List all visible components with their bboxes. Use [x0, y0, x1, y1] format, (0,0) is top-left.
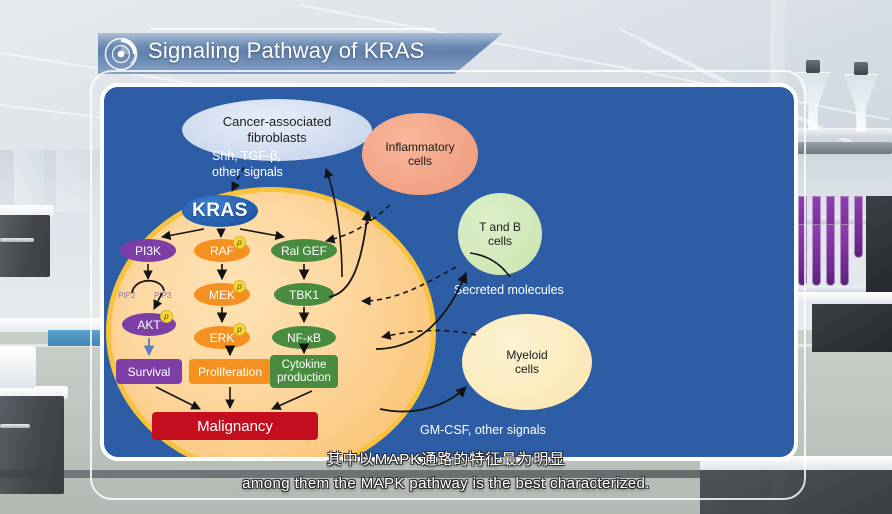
node-mek[interactable]: MEK p — [194, 283, 250, 306]
phospho-badge-icon: p — [233, 280, 246, 293]
flask-neck — [806, 60, 820, 73]
myeloid-cells-line2: cells — [506, 362, 547, 376]
outcome-survival-label: Survival — [128, 365, 171, 379]
test-tube — [798, 224, 807, 286]
secreted-molecules-label: Secreted molecules — [454, 283, 564, 299]
kras-node[interactable]: KRAS — [182, 195, 258, 227]
kras-signaling-diagram: Cancer-associated fibroblasts Shh, TGF-β… — [104, 87, 794, 457]
phospho-badge-icon: p — [160, 310, 173, 323]
pip3-label: PIP3 — [154, 291, 171, 300]
outcome-survival[interactable]: Survival — [116, 359, 182, 384]
subtitle-chinese: 其中以MAPK通路的特征最为明显 — [0, 448, 892, 469]
malignancy-label: Malignancy — [197, 418, 273, 435]
myeloid-cells[interactable]: Myeloid cells — [462, 314, 592, 410]
malignancy-box[interactable]: Malignancy — [152, 412, 318, 440]
outcome-proliferation[interactable]: Proliferation — [189, 359, 271, 384]
incoming-signals-label: Shh, TGF-β, other signals — [212, 149, 283, 180]
node-nfkb-label: NF-κB — [287, 331, 321, 345]
t-and-b-cells[interactable]: T and B cells — [458, 193, 542, 275]
glass-shelf — [786, 128, 892, 138]
node-pi3k-label: PI3K — [135, 244, 161, 258]
phospho-badge-icon: p — [233, 236, 246, 249]
node-ral-gef[interactable]: Ral GEF — [271, 239, 337, 262]
node-pi3k[interactable]: PI3K — [120, 239, 176, 262]
bench-surface — [0, 346, 36, 388]
caf-label-line2: fibroblasts — [223, 130, 331, 146]
kras-label: KRAS — [192, 200, 248, 222]
myeloid-cells-line1: Myeloid — [506, 348, 547, 362]
incoming-signals-line1: Shh, TGF-β, — [212, 149, 283, 165]
equipment-panel — [812, 300, 892, 352]
caf-label-line1: Cancer-associated — [223, 114, 331, 130]
gmcsf-signals-label: GM-CSF, other signals — [420, 423, 546, 439]
incoming-signals-line2: other signals — [212, 165, 283, 181]
screenshot-root: Signaling Pathway of KRAS Cancer-associa… — [0, 0, 892, 514]
phospho-badge-icon: p — [233, 323, 246, 336]
outcome-cytokine-line2: production — [277, 372, 331, 385]
test-tube — [826, 224, 835, 286]
diagram-panel: Cancer-associated fibroblasts Shh, TGF-β… — [100, 83, 798, 461]
outcome-cytokine-production[interactable]: Cytokine production — [270, 355, 338, 388]
cabinet-drawer — [0, 215, 50, 277]
node-ral-gef-label: Ral GEF — [281, 244, 327, 258]
title-accent-line — [150, 28, 435, 30]
test-tube — [812, 224, 821, 286]
outcome-cytokine-line1: Cytokine — [277, 359, 331, 372]
circular-target-logo-icon — [103, 36, 139, 72]
inflammatory-cells[interactable]: Inflammatory cells — [362, 113, 478, 195]
equipment-panel — [866, 196, 892, 292]
inflammatory-cells-line1: Inflammatory — [385, 140, 454, 154]
pip2-label: PIP2 — [118, 291, 135, 300]
node-raf[interactable]: RAF p — [194, 239, 250, 262]
test-tube — [840, 224, 849, 286]
node-erk-label: ERK — [210, 331, 235, 345]
shelf-rail — [786, 142, 892, 154]
inflammatory-cells-line2: cells — [385, 154, 454, 168]
outcome-proliferation-label: Proliferation — [198, 365, 262, 379]
node-erk[interactable]: ERK p — [194, 326, 250, 349]
cabinet-handle — [0, 424, 30, 428]
t-and-b-cells-line2: cells — [479, 234, 521, 248]
node-tbk1-label: TBK1 — [289, 288, 319, 302]
test-tube — [854, 196, 863, 258]
subtitle-block: 其中以MAPK通路的特征最为明显 among them the MAPK pat… — [0, 448, 892, 492]
page-title: Signaling Pathway of KRAS — [148, 38, 425, 64]
cabinet-handle — [0, 238, 34, 242]
node-raf-label: RAF — [210, 244, 234, 258]
flask-neck — [854, 62, 868, 75]
node-tbk1[interactable]: TBK1 — [274, 283, 334, 306]
node-mek-label: MEK — [209, 288, 235, 302]
node-akt-label: AKT — [137, 318, 160, 332]
wall-panel — [56, 150, 100, 212]
t-and-b-cells-line1: T and B — [479, 220, 521, 234]
node-akt[interactable]: AKT p — [122, 313, 176, 336]
wall-panel — [14, 150, 44, 210]
node-nfkb[interactable]: NF-κB — [272, 326, 336, 349]
subtitle-english: among them the MAPK pathway is the best … — [0, 475, 892, 492]
